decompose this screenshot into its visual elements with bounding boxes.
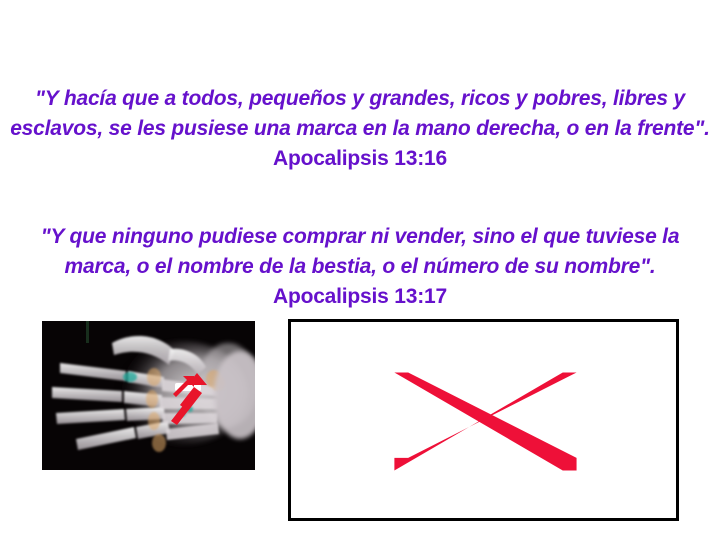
hand-xray-image [42, 321, 255, 470]
hand-xray-graphic [42, 321, 255, 470]
red-x-graphic [291, 322, 676, 518]
red-x-strokes [394, 372, 576, 470]
verse-2-quote: "Y que ninguno pudiese comprar ni vender… [41, 225, 680, 278]
verse-1-quote: "Y hacía que a todos, pequeños y grandes… [10, 87, 710, 140]
verse-1-reference: Apocalipsis 13:16 [273, 147, 447, 170]
verse-block-2: "Y que ninguno pudiese comprar ni vender… [10, 222, 710, 312]
red-x-panel [288, 319, 679, 521]
slide-canvas: "Y hacía que a todos, pequeños y grandes… [0, 0, 720, 540]
verse-block-1: "Y hacía que a todos, pequeños y grandes… [10, 84, 710, 174]
verse-2-reference: Apocalipsis 13:17 [273, 285, 447, 308]
